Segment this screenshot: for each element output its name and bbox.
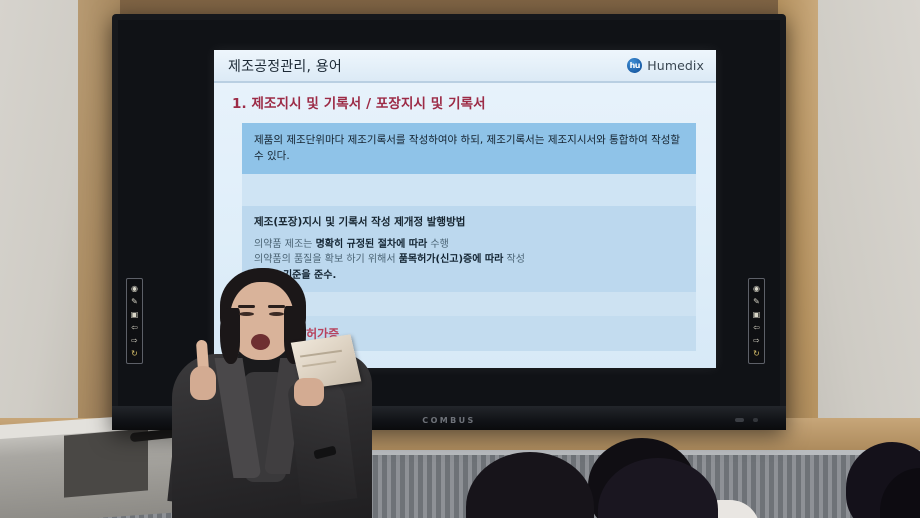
content-block-a: 제품의 제조단위마다 제조기록서를 작성하여야 하되, 제조기록서는 제조지시서… <box>242 123 696 174</box>
power-icon[interactable]: ◉ <box>130 284 140 294</box>
refresh-icon[interactable]: ↻ <box>130 349 140 359</box>
humedix-logo: hu Humedix <box>627 58 704 73</box>
ir-receiver-icon <box>735 418 744 422</box>
content-line-1-pre: 의약품 제조는 <box>254 239 316 250</box>
content-line-2-bold: 품목허가(신고)증에 따라 <box>399 254 504 265</box>
presenter-brow-left <box>238 305 255 308</box>
content-block-a-text: 제품의 제조단위마다 제조기록서를 작성하여야 하되, 제조기록서는 제조지시서… <box>254 134 680 162</box>
presenter <box>168 262 378 518</box>
pen-icon[interactable]: ✎ <box>752 297 762 307</box>
content-block-c-label: 제조(포장)지시 및 기록서 작성 제개정 발행방법 <box>254 215 684 231</box>
content-line-1: 의약품 제조는 명확히 규정된 절차에 따라 수행 <box>254 237 684 252</box>
content-block-b <box>242 174 696 206</box>
humedix-logo-text: Humedix <box>647 58 704 73</box>
display-icon[interactable]: ▣ <box>130 310 140 320</box>
control-strip-left[interactable]: ◉ ✎ ▣ ⇦ ⇨ ↻ <box>126 278 143 364</box>
status-led-icon <box>753 418 758 422</box>
left-arrow-icon[interactable]: ⇦ <box>130 323 140 333</box>
pen-icon[interactable]: ✎ <box>130 297 140 307</box>
content-line-1-bold: 명확히 규정된 절차에 따라 <box>316 239 428 250</box>
wall-right <box>812 0 920 470</box>
right-arrow-icon[interactable]: ⇨ <box>130 336 140 346</box>
presenter-brow-right <box>268 305 285 308</box>
presenter-eye-right <box>269 312 284 316</box>
presenter-left-hand <box>294 378 324 406</box>
lecture-scene: 제조공정관리, 용어 hu Humedix 1. 제조지시 및 기록서 / 포장… <box>0 0 920 518</box>
humedix-mark-icon: hu <box>627 58 642 73</box>
display-brand-label: COMBUS <box>422 416 475 425</box>
content-line-2-post: 작성 <box>503 254 525 265</box>
refresh-icon[interactable]: ↻ <box>752 349 762 359</box>
display-icon[interactable]: ▣ <box>752 310 762 320</box>
slide-heading: 1. 제조지시 및 기록서 / 포장지시 및 기록서 <box>232 92 702 112</box>
presenter-right-hand <box>190 366 216 400</box>
content-line-1-post: 수행 <box>427 239 449 250</box>
presenter-eye-left <box>239 312 254 316</box>
presenter-hair-left <box>220 308 240 364</box>
slide-title: 제조공정관리, 용어 <box>228 56 342 76</box>
presenter-mouth <box>251 334 270 350</box>
slide-header: 제조공정관리, 용어 hu Humedix <box>214 50 716 83</box>
left-arrow-icon[interactable]: ⇦ <box>752 323 762 333</box>
right-arrow-icon[interactable]: ⇨ <box>752 336 762 346</box>
control-strip-right[interactable]: ◉ ✎ ▣ ⇦ ⇨ ↻ <box>748 278 765 364</box>
power-icon[interactable]: ◉ <box>752 284 762 294</box>
